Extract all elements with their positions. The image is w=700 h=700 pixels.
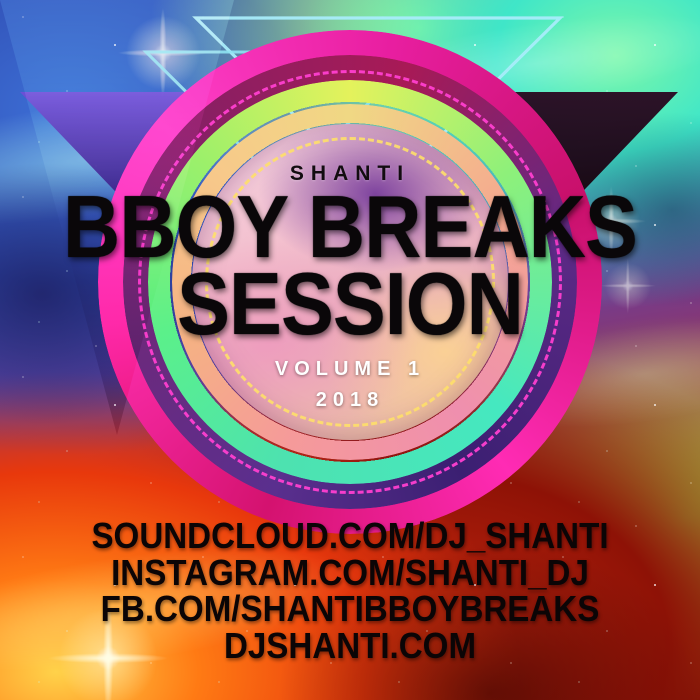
album-cover-poster: SHANTI BBOY BREAKS SESSION VOLUME 1 2018… xyxy=(0,0,700,700)
volume-label: VOLUME 1 xyxy=(0,358,700,381)
year-label: 2018 xyxy=(0,389,700,412)
title-line-1: BBOY BREAKS xyxy=(35,190,665,264)
link-instagram[interactable]: INSTAGRAM.COM/SHANTI_DJ xyxy=(28,555,672,592)
link-soundcloud[interactable]: SOUNDCLOUD.COM/DJ_SHANTI xyxy=(28,518,672,555)
title-line-2: SESSION xyxy=(35,267,665,341)
link-website[interactable]: DJSHANTI.COM xyxy=(28,628,672,665)
link-facebook[interactable]: FB.COM/SHANTIBBOYBREAKS xyxy=(28,591,672,628)
social-links-block: SOUNDCLOUD.COM/DJ_SHANTI INSTAGRAM.COM/S… xyxy=(0,518,700,665)
